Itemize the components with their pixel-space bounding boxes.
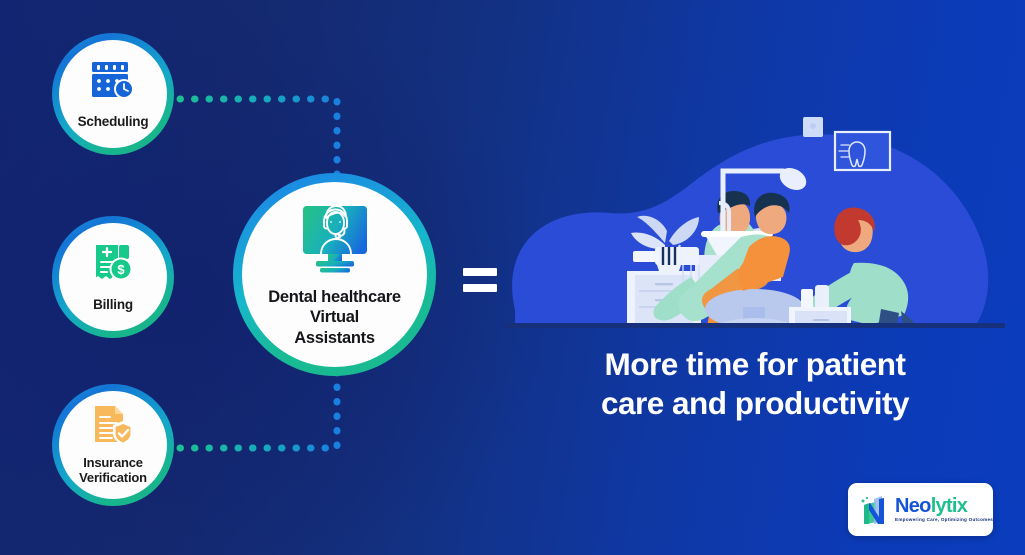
tooth-xray-panel <box>835 132 890 170</box>
wall-switch <box>803 117 823 137</box>
equals-bar-bottom <box>463 284 497 292</box>
center-circle-label: Dental healthcareVirtualAssistants <box>268 287 400 348</box>
neolytix-n-bars-icon <box>857 493 891 527</box>
headline-line-2: care and productivity <box>520 384 990 423</box>
circle-inner: Scheduling <box>59 40 167 148</box>
logo-wordmark: Neolytix <box>895 496 993 516</box>
logo-word-part1: Neo <box>895 495 931 517</box>
infographic-canvas: Scheduling <box>0 0 1025 555</box>
circle-inner: $ Billing <box>59 223 167 331</box>
feature-label-scheduling: Scheduling <box>78 114 149 129</box>
feature-label-insurance: InsuranceVerification <box>79 456 147 485</box>
circle-inner: Dental healthcareVirtualAssistants <box>242 182 427 367</box>
feature-circle-insurance[interactable]: InsuranceVerification <box>52 384 174 506</box>
dental-clinic-illustration <box>505 95 1005 335</box>
equals-bar-top <box>463 268 497 276</box>
logo-tagline: Empowering Care, Optimizing Outcomes <box>895 518 993 523</box>
logo-word-part2: lytix <box>931 495 968 517</box>
feature-circle-billing[interactable]: $ Billing <box>52 216 174 338</box>
monitor-headset-agent-icon <box>294 201 376 280</box>
center-circle-virtual-assistants[interactable]: Dental healthcareVirtualAssistants <box>233 173 436 376</box>
neolytix-logo[interactable]: Neolytix Empowering Care, Optimizing Out… <box>848 483 993 536</box>
logo-text: Neolytix Empowering Care, Optimizing Out… <box>895 496 993 523</box>
headline-line-1: More time for patient <box>520 345 990 384</box>
feature-label-billing: Billing <box>93 297 133 312</box>
headline: More time for patient care and productiv… <box>520 345 990 423</box>
svg-text:$: $ <box>117 262 125 277</box>
floor-line <box>505 323 1005 328</box>
feature-circle-scheduling[interactable]: Scheduling <box>52 33 174 155</box>
invoice-dollar-icon: $ <box>90 241 136 290</box>
calendar-clock-icon <box>89 58 137 107</box>
document-shield-icon <box>90 404 136 451</box>
circle-inner: InsuranceVerification <box>59 391 167 499</box>
equals-sign <box>463 268 497 296</box>
